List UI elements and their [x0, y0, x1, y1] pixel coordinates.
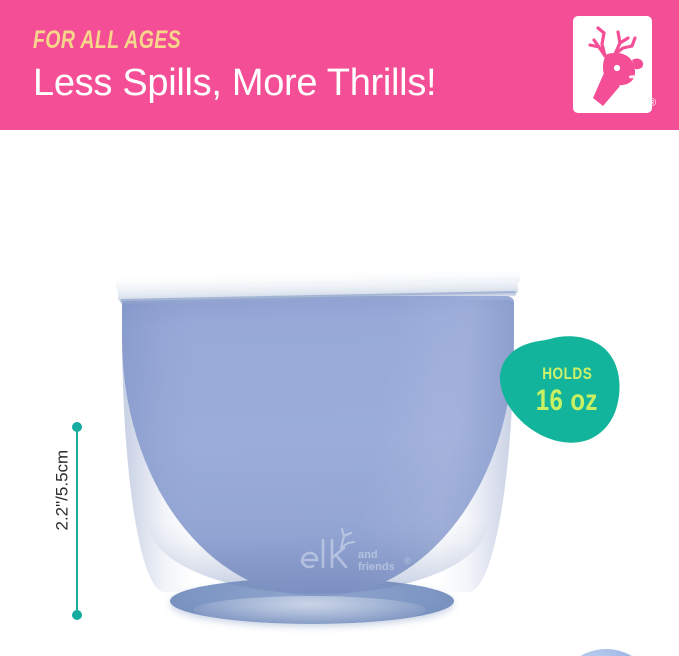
suction-cup-inset: 3-Point Suction	[548, 649, 664, 656]
header-headline-text: Less Spills, More Thrills!	[33, 64, 436, 104]
svg-text:friends: friends	[358, 561, 395, 573]
height-dimension-label: 2.2"/5.5cm	[54, 455, 71, 531]
holds-badge-text-group: HOLDS 16 oz	[498, 335, 622, 443]
height-dimension-line	[76, 427, 78, 615]
logo-registered-mark: ®	[648, 98, 656, 109]
holds-badge-value: 16 oz	[536, 385, 598, 417]
header-banner: FOR ALL AGES Less Spills, More Thrills!	[0, 0, 679, 130]
bowl-embossed-brand-mark: and friends ®	[296, 526, 426, 578]
product-bowl	[108, 266, 528, 641]
height-dimension-indicator: 2.2"/5.5cm	[48, 420, 110, 624]
height-dimension-endpoint-bottom	[72, 610, 82, 620]
holds-badge-label: HOLDS	[542, 365, 592, 382]
svg-text:®: ®	[404, 556, 411, 566]
holds-capacity-badge: HOLDS 16 oz	[498, 335, 622, 443]
header-eyebrow-text: FOR ALL AGES	[33, 28, 181, 53]
bowl-suction-base-highlight	[194, 596, 426, 624]
product-feature-image: FOR ALL AGES Less Spills, More Thrills!	[0, 0, 679, 656]
elk-head-logo-icon	[573, 16, 652, 113]
svg-text:and: and	[358, 549, 378, 561]
product-stage: and friends ® HOLDS 16 oz 2.2"/5.5cm	[0, 130, 679, 656]
suction-disc	[556, 649, 656, 656]
